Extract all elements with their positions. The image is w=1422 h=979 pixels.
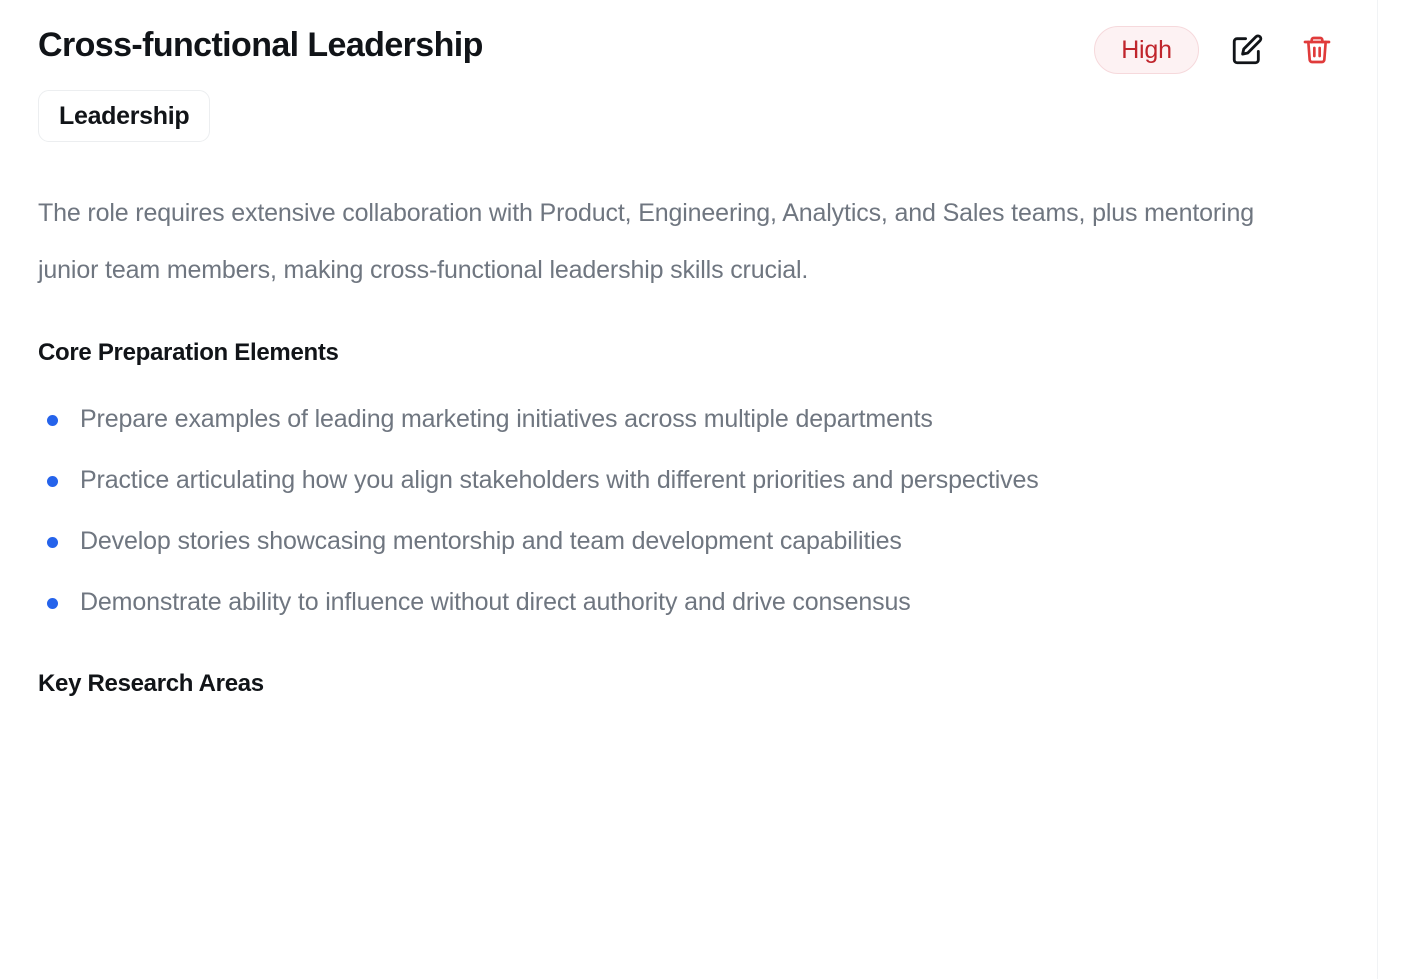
core-preparation-list: Prepare examples of leading marketing in…	[38, 394, 1278, 627]
bullet-dot-icon	[47, 415, 58, 426]
detail-panel-viewport: Cross-functional Leadership High	[0, 0, 1422, 979]
page-title: Cross-functional Leadership	[38, 22, 483, 66]
list-item-text: Prepare examples of leading marketing in…	[80, 405, 933, 433]
header-actions: High	[1094, 22, 1339, 74]
section-heading-key-research-areas: Key Research Areas	[38, 669, 1339, 699]
bullet-dot-icon	[47, 598, 58, 609]
delete-button[interactable]	[1295, 28, 1339, 72]
panel-divider	[1377, 0, 1378, 979]
edit-icon	[1230, 33, 1264, 67]
item-detail-panel: Cross-functional Leadership High	[0, 0, 1377, 979]
tag-chip-leadership[interactable]: Leadership	[38, 90, 210, 142]
list-item: Prepare examples of leading marketing in…	[38, 394, 1278, 444]
list-item: Practice articulating how you align stak…	[38, 455, 1278, 505]
bullet-dot-icon	[47, 476, 58, 487]
list-item-text: Develop stories showcasing mentorship an…	[80, 527, 902, 555]
list-item-text: Demonstrate ability to influence without…	[80, 588, 911, 616]
description-text: The role requires extensive collaboratio…	[38, 185, 1263, 299]
list-item: Demonstrate ability to influence without…	[38, 577, 1278, 627]
status-badge-priority: High	[1094, 26, 1199, 74]
list-item-text: Practice articulating how you align stak…	[80, 466, 1039, 494]
bullet-dot-icon	[47, 537, 58, 548]
detail-header: Cross-functional Leadership High	[38, 22, 1339, 74]
section-heading-core-preparation-elements: Core Preparation Elements	[38, 338, 1339, 368]
list-item: Develop stories showcasing mentorship an…	[38, 516, 1278, 566]
trash-icon	[1301, 34, 1333, 66]
tag-list: Leadership	[38, 90, 1339, 142]
edit-button[interactable]	[1225, 28, 1269, 72]
